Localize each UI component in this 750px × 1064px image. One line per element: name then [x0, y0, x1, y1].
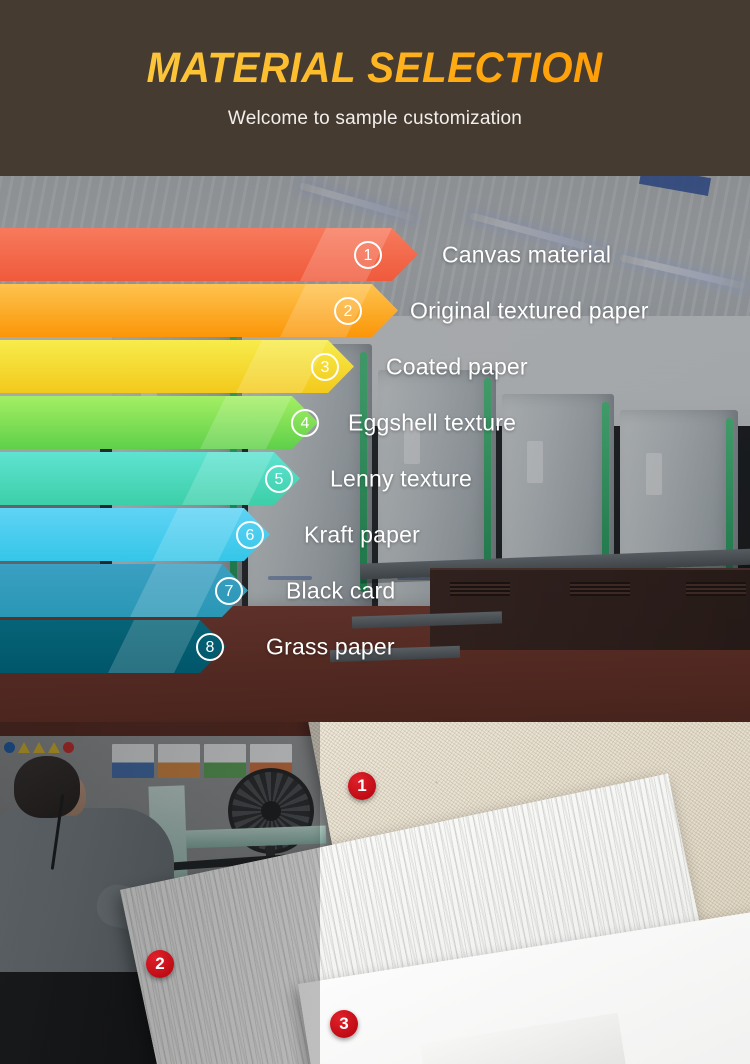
- page-subtitle: Welcome to sample customization: [228, 108, 522, 130]
- sample-badge-2: 2: [146, 950, 174, 978]
- page-header: MATERIAL SELECTION Welcome to sample cus…: [0, 0, 750, 176]
- material-selection-page: MATERIAL SELECTION Welcome to sample cus…: [0, 0, 750, 1064]
- material-label: Kraft paper: [304, 521, 420, 548]
- material-label: Canvas material: [442, 241, 611, 268]
- material-number-badge: 8: [196, 633, 224, 661]
- wall-poster: [158, 744, 200, 778]
- material-label: Eggshell texture: [348, 409, 516, 436]
- wall-poster: [112, 744, 154, 778]
- sample-badge-3: 3: [330, 1010, 358, 1038]
- safety-signs: [4, 742, 74, 753]
- material-label: Coated paper: [386, 353, 528, 380]
- page-title: MATERIAL SELECTION: [147, 46, 603, 91]
- material-label: Grass paper: [266, 633, 395, 660]
- material-label: Original textured paper: [410, 297, 649, 324]
- material-arrow-list: 1Canvas material2Original textured paper…: [0, 176, 750, 722]
- material-label: Black card: [286, 577, 395, 604]
- material-number-badge: 3: [311, 353, 339, 381]
- material-number-badge: 5: [265, 465, 293, 493]
- material-number-badge: 7: [215, 577, 243, 605]
- worker-head: [14, 756, 80, 818]
- material-number-badge: 4: [291, 409, 319, 437]
- wall-poster: [204, 744, 246, 778]
- material-number-badge: 2: [334, 297, 362, 325]
- material-list-section: 1Canvas material2Original textured paper…: [0, 176, 750, 722]
- workshop-photo-section: [0, 722, 750, 1064]
- material-number-badge: 6: [236, 521, 264, 549]
- material-number-badge: 1: [354, 241, 382, 269]
- sample-badge-1: 1: [348, 772, 376, 800]
- material-label: Lenny texture: [330, 465, 472, 492]
